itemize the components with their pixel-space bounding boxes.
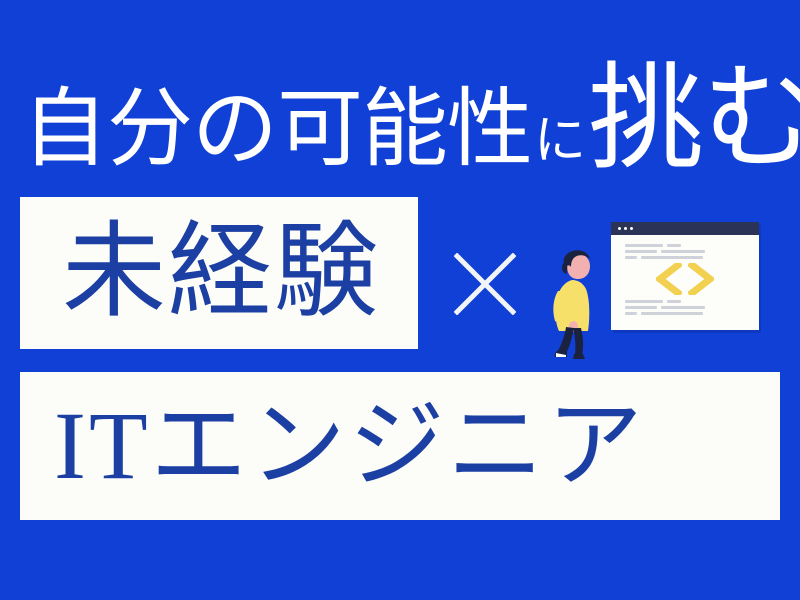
- walking-person-illustration: [548, 247, 602, 360]
- window-dot-icon: [624, 227, 627, 230]
- person-leg-front: [573, 328, 583, 355]
- code-line: [625, 306, 745, 309]
- window-dot-icon: [630, 227, 633, 230]
- code-brackets-icon: [625, 262, 745, 296]
- code-lines-bottom: [625, 300, 745, 315]
- code-lines-top: [625, 244, 745, 259]
- code-line: [625, 300, 745, 303]
- recruitment-banner: 自分の可能性 に 挑む 未経験 ITエンジニア: [0, 0, 800, 600]
- plaque-experience-label: 未経験: [62, 221, 380, 325]
- browser-code-window: [611, 222, 759, 330]
- headline-part-2: に: [532, 116, 588, 172]
- headline-part-1: 自分の可能性: [22, 86, 532, 172]
- plaque-experience: 未経験: [20, 197, 418, 349]
- browser-titlebar: [611, 222, 759, 235]
- headline-part-3: 挑む: [588, 62, 800, 178]
- window-dot-icon: [618, 227, 621, 230]
- person-shoe-front: [573, 354, 585, 359]
- plaque-role-label: ITエンジニア: [20, 398, 646, 494]
- code-line: [625, 250, 745, 253]
- code-line: [625, 244, 745, 247]
- code-line: [625, 256, 745, 259]
- code-line: [625, 312, 745, 315]
- browser-body: [611, 235, 759, 330]
- plaque-role: ITエンジニア: [20, 372, 780, 520]
- headline: 自分の可能性 に 挑む: [22, 52, 792, 172]
- multiplication-cross-icon: [443, 242, 527, 326]
